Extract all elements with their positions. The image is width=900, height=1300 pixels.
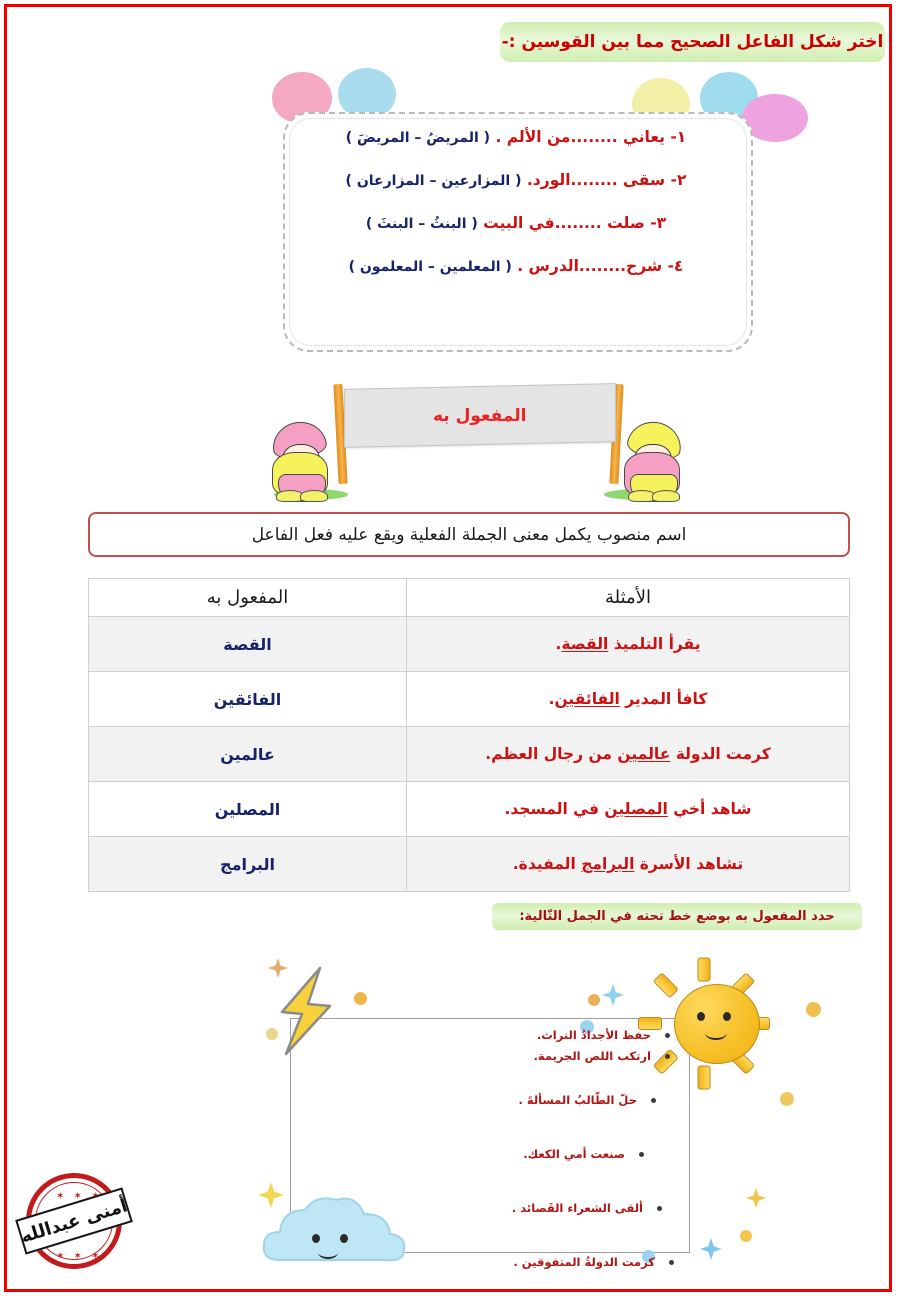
list-item[interactable]: ارتكب اللص الجريمة. (370, 1049, 670, 1063)
dot-decoration (354, 992, 367, 1005)
example-1-prefix: يقرأ التلميذ (608, 635, 700, 653)
exercise-item-4-sentence: شرح........الدرس . (517, 257, 662, 275)
instruction-banner-practice: حدد المفعول به بوضع خط تحته في الجمل الت… (492, 903, 862, 930)
practice-bullet-6-text: كرمت الدولةُ المتفوقين . (513, 1255, 655, 1269)
table-cell-example-2: كافأ المدير الفائقين. (407, 672, 850, 727)
table-header-row: الأمثلة المفعول به (89, 579, 850, 617)
gnome-left-icon (266, 422, 362, 500)
bullet-dot-icon (665, 1054, 670, 1059)
practice-bullet-list: حفظ الأجدادُ التراث. ارتكب اللص الجريمة.… (370, 1028, 670, 1269)
example-4-object: المصلين (604, 800, 667, 818)
example-1-object: القصة (561, 635, 608, 653)
example-4-prefix: شاهد أخي (668, 800, 752, 818)
definition-box: اسم منصوب يكمل معنى الجملة الفعلية ويقع … (88, 512, 850, 557)
sparkle-icon (268, 958, 288, 978)
example-4-suffix: في المسجد. (504, 800, 604, 818)
teacher-stamp: ✶ ✶ ✶ ✶ ✶ ✶ أمنى عبدالله (14, 1163, 134, 1283)
list-item[interactable]: ألقى الشعراء القَصائد . (370, 1201, 662, 1215)
exercise-item-1-number: ١- (670, 128, 686, 146)
table-row: تشاهد الأسرة البرامج المفيدة. البرامج (89, 837, 850, 892)
definition-text: اسم منصوب يكمل معنى الجملة الفعلية ويقع … (252, 525, 687, 545)
table-cell-example-4: شاهد أخي المصلين في المسجد. (407, 782, 850, 837)
instruction-banner-practice-text: حدد المفعول به بوضع خط تحته في الجمل الت… (519, 909, 834, 924)
table-row: شاهد أخي المصلين في المسجد. المصلين (89, 782, 850, 837)
sun-ray (653, 972, 679, 998)
example-2-prefix: كافأ المدير (620, 690, 708, 708)
sparkle-icon (602, 984, 624, 1006)
gnome-left-shoe-2 (300, 490, 328, 502)
dot-decoration (740, 1230, 752, 1242)
exercise-item-4-number: ٤- (667, 257, 683, 275)
example-3-suffix: من رجال العظم. (485, 745, 617, 763)
exercise-item-3[interactable]: ٣- صلت ........في البيت ( البنثُ – البنث… (292, 214, 740, 232)
practice-scene: حفظ الأجدادُ التراث. ارتكب اللص الجريمة.… (250, 950, 870, 1290)
table-header-object: المفعول به (89, 579, 407, 617)
instruction-banner-top: اختر شكل الفاعل الصحيح مما بين القوسين :… (500, 22, 885, 62)
lightning-bolt-icon (264, 964, 354, 1059)
sun-mouth (705, 1026, 727, 1040)
bullet-dot-icon (651, 1098, 656, 1103)
practice-bullet-4-text: صنعت أمي الكعك. (523, 1147, 625, 1161)
exercise-item-3-choices: ( البنثُ – البنثَ ) (366, 216, 478, 232)
sun-ray (698, 958, 711, 982)
sun-eye-left (697, 1012, 705, 1021)
example-5-suffix: المفيدة. (513, 855, 581, 873)
bullet-dot-icon (657, 1206, 662, 1211)
exercise-item-2-choices: ( المزارعين – المزارعان ) (346, 173, 522, 189)
table-row: يقرأ التلميذ القصة. القصة (89, 617, 850, 672)
table-cell-answer-1: القصة (89, 617, 407, 672)
exercise-item-3-number: ٣- (650, 214, 666, 232)
title-banner-text: المفعول به (433, 406, 526, 426)
exercise-item-2[interactable]: ٢- سقى ........الورد. ( المزارعين – المز… (292, 171, 740, 189)
practice-bullet-2-text: ارتكب اللص الجريمة. (534, 1049, 651, 1063)
bullet-dot-icon (665, 1033, 670, 1038)
exercise-item-3-sentence: صلت ........في البيت (483, 214, 645, 232)
dot-decoration (266, 1028, 278, 1040)
sun-eye-right (723, 1012, 731, 1021)
table-cell-example-3: كرمت الدولة عالمين من رجال العظم. (407, 727, 850, 782)
example-5-object: البرامج (581, 855, 634, 873)
title-banner-scene: المفعول به (262, 382, 692, 500)
exercise-item-2-sentence: سقى ........الورد. (527, 171, 665, 189)
table-row: كرمت الدولة عالمين من رجال العظم. عالمين (89, 727, 850, 782)
dot-decoration (806, 1002, 821, 1017)
exercise-item-1-sentence: يعاني ........من الألم . (495, 128, 664, 146)
list-item[interactable]: كرمت الدولةُ المتفوقين . (370, 1255, 674, 1269)
list-item[interactable]: صنعت أمي الكعك. (370, 1147, 644, 1161)
bullet-dot-icon (639, 1152, 644, 1157)
cloud-eye-right (340, 1234, 348, 1243)
exercise-item-1-choices: ( المريضُ – المريضَ ) (346, 130, 490, 146)
table-row: كافأ المدير الفائقين. الفائقين (89, 672, 850, 727)
exercise-list: ١- يعاني ........من الألم . ( المريضُ – … (292, 128, 740, 300)
table-header-examples: الأمثلة (407, 579, 850, 617)
list-item[interactable]: حفظ الأجدادُ التراث. (370, 1028, 670, 1042)
table-cell-answer-3: عالمين (89, 727, 407, 782)
examples-table: الأمثلة المفعول به يقرأ التلميذ القصة. ا… (88, 578, 850, 892)
gnome-right-icon (592, 422, 688, 500)
exercise-item-2-number: ٢- (671, 171, 687, 189)
sparkle-icon (258, 1182, 284, 1208)
sun-ray (698, 1066, 711, 1090)
table-cell-answer-5: البرامج (89, 837, 407, 892)
exercise-item-4-choices: ( المعلمين – المعلمون ) (349, 259, 512, 275)
example-5-prefix: تشاهد الأسرة (634, 855, 743, 873)
table-cell-example-1: يقرأ التلميذ القصة. (407, 617, 850, 672)
example-3-prefix: كرمت الدولة (670, 745, 770, 763)
cloud-mouth (318, 1246, 338, 1259)
exercise-item-4[interactable]: ٤- شرح........الدرس . ( المعلمين – المعل… (292, 257, 740, 275)
practice-bullet-3-text: حلّ الطّالبُ المسألةَ . (519, 1093, 638, 1107)
practice-bullet-1-text: حفظ الأجدادُ التراث. (537, 1028, 651, 1042)
exercise-item-1[interactable]: ١- يعاني ........من الألم . ( المريضُ – … (292, 128, 740, 146)
sparkle-icon (746, 1188, 766, 1208)
stamp-stars-bottom: ✶ ✶ ✶ (56, 1251, 103, 1262)
bullet-dot-icon (669, 1260, 674, 1265)
sun-face (674, 984, 760, 1064)
gnome-right-shoe-2 (652, 490, 680, 502)
practice-bullet-5-text: ألقى الشعراء القَصائد . (512, 1201, 643, 1215)
title-banner: المفعول به (344, 383, 616, 448)
instruction-banner-top-text: اختر شكل الفاعل الصحيح مما بين القوسين :… (502, 32, 884, 52)
list-item[interactable]: حلّ الطّالبُ المسألةَ . (370, 1093, 656, 1107)
dot-decoration (588, 994, 600, 1006)
table-cell-example-5: تشاهد الأسرة البرامج المفيدة. (407, 837, 850, 892)
example-3-object: عالمين (617, 745, 670, 763)
cloud-eye-left (312, 1234, 320, 1243)
sparkle-icon (700, 1238, 722, 1260)
example-2-object: الفائقين (554, 690, 619, 708)
table-cell-answer-2: الفائقين (89, 672, 407, 727)
dot-decoration (780, 1092, 794, 1106)
table-cell-answer-4: المصلين (89, 782, 407, 837)
